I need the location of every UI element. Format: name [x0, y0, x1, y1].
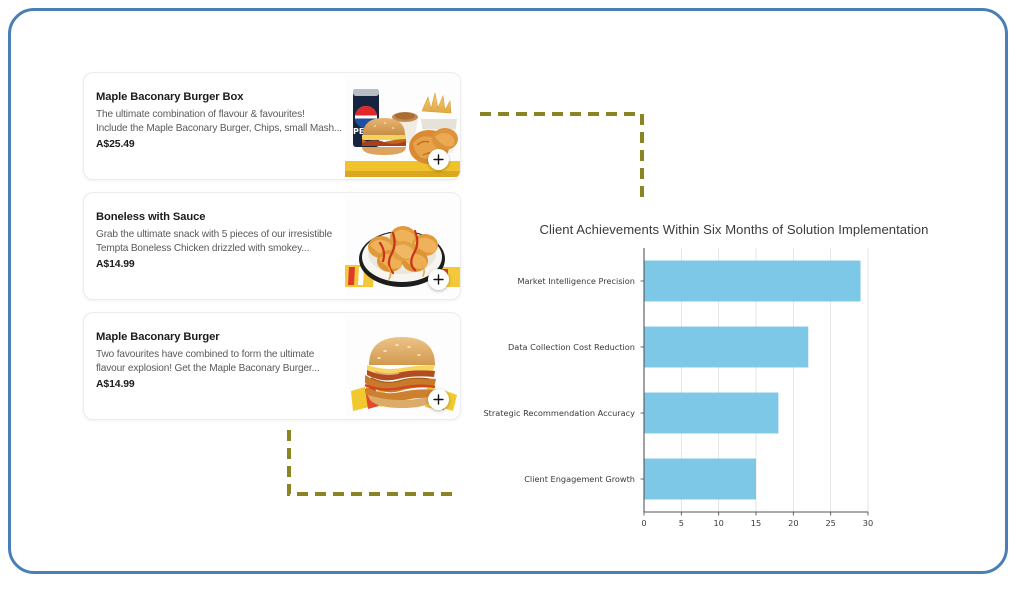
chart-panel: Client Achievements Within Six Months of… — [484, 222, 984, 522]
plus-icon — [433, 154, 444, 165]
plus-icon — [433, 394, 444, 405]
product-description-line: flavour explosion! Get the Maple Baconar… — [96, 362, 348, 376]
add-to-cart-button[interactable] — [428, 389, 449, 410]
y-axis-tick-label: Market Intelligence Precision — [517, 276, 635, 286]
dashed-connector-top — [476, 108, 656, 213]
x-axis-tick-label: 25 — [825, 518, 835, 528]
product-card-text: Boneless with Sauce Grab the ultimate sn… — [96, 211, 348, 270]
bar — [644, 327, 808, 368]
product-description-line: Two favourites have combined to form the… — [96, 348, 348, 362]
product-description-line: Include the Maple Baconary Burger, Chips… — [96, 122, 348, 136]
bar — [644, 459, 756, 500]
product-description: The ultimate combination of flavour & fa… — [96, 108, 348, 135]
x-axis-tick-label: 5 — [679, 518, 684, 528]
x-axis-tick-label: 20 — [788, 518, 798, 528]
chart-title: Client Achievements Within Six Months of… — [484, 222, 984, 237]
product-description: Two favourites have combined to form the… — [96, 348, 348, 375]
product-card[interactable]: Maple Baconary Burger Two favourites hav… — [83, 312, 461, 420]
product-price: A$25.49 — [96, 139, 348, 150]
product-card[interactable]: Boneless with Sauce Grab the ultimate sn… — [83, 192, 461, 300]
product-title: Boneless with Sauce — [96, 211, 348, 223]
y-axis-tick-label: Strategic Recommendation Accuracy — [484, 408, 635, 418]
bar-chart: Market Intelligence PrecisionData Collec… — [484, 240, 984, 535]
x-axis-tick-label: 10 — [713, 518, 723, 528]
add-to-cart-button[interactable] — [428, 269, 449, 290]
product-card-text: Maple Baconary Burger Box The ultimate c… — [96, 91, 348, 150]
x-axis-tick-label: 30 — [863, 518, 873, 528]
product-description-line: Grab the ultimate snack with 5 pieces of… — [96, 228, 348, 242]
x-axis-tick-label: 0 — [641, 518, 646, 528]
product-description: Grab the ultimate snack with 5 pieces of… — [96, 228, 348, 255]
plus-icon — [433, 274, 444, 285]
product-card[interactable]: Maple Baconary Burger Box The ultimate c… — [83, 72, 461, 180]
product-title: Maple Baconary Burger — [96, 331, 348, 343]
dashed-connector-bottom — [283, 428, 463, 508]
product-description-line: Tempta Boneless Chicken drizzled with sm… — [96, 242, 348, 256]
product-card-list: Maple Baconary Burger Box The ultimate c… — [83, 72, 461, 432]
bar — [644, 393, 778, 434]
add-to-cart-button[interactable] — [428, 149, 449, 170]
product-price: A$14.99 — [96, 259, 348, 270]
product-title: Maple Baconary Burger Box — [96, 91, 348, 103]
x-axis-tick-label: 15 — [751, 518, 761, 528]
product-price: A$14.99 — [96, 379, 348, 390]
product-card-text: Maple Baconary Burger Two favourites hav… — [96, 331, 348, 390]
y-axis-tick-label: Data Collection Cost Reduction — [508, 342, 635, 352]
y-axis-tick-label: Client Engagement Growth — [524, 474, 635, 484]
bar — [644, 261, 861, 302]
product-description-line: The ultimate combination of flavour & fa… — [96, 108, 348, 122]
